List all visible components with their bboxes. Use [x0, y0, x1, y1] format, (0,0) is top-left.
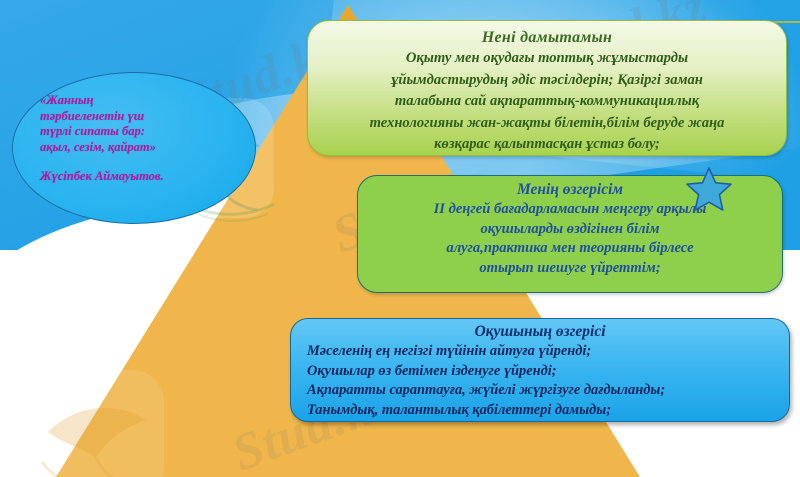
quote-block: «Жанның тәрбиеленетін үш түрлі сипаты ба… [40, 93, 230, 185]
card-top-line: технологияны жан-жақты білетін,білім бер… [322, 113, 772, 135]
card-bottom-heading: Оқушының өзгерісі [303, 321, 777, 342]
quote-line: «Жанның [40, 93, 230, 109]
card-bottom-line: Ақпаратты сараптауға, жүйелі жүргізуге д… [307, 381, 777, 401]
quote-author: Жүсіпбек Аймауытов. [40, 169, 230, 185]
card-top-line: талабына сай ақпараттық-коммуникациялық [322, 91, 772, 113]
star-icon [686, 167, 732, 211]
card-bottom-line: Мәселенің ең негізгі түйінін айтуға үйре… [307, 342, 777, 362]
card-bottom-line: Оқушылар өз бетімен ізденуге үйренді; [307, 362, 777, 382]
card-mid-line: алуга,практика мен теорияны бірлесе [370, 239, 770, 259]
card-top-line: Оқыту мен оқудағы топтық жұмыстарды [322, 48, 772, 70]
card-mid-line: оқушыларды өздігінен білім [370, 220, 770, 240]
quote-line: ақыл, сезім, қайрат» [40, 140, 230, 156]
card-what-i-develop: Нені дамытамын Оқыту мен оқудағы топтық … [307, 20, 787, 156]
card-bottom-line: Танымдық, талантылық қабілеттері дамыды; [307, 401, 777, 421]
card-student-change: Оқушының өзгерісі Мәселенің ең негізгі т… [290, 318, 790, 422]
quote-line: түрлі сипаты бар: [40, 124, 230, 140]
card-mid-line: отырып шешуге үйреттім; [370, 259, 770, 279]
card-top-line: ұйымдастырудың әдіс тәсілдерін; Қазіргі … [322, 70, 772, 92]
quote-line: тәрбиеленетін үш [40, 109, 230, 125]
card-top-heading: Нені дамытамын [322, 27, 772, 48]
card-top-line: көзқарас қалыптасқан ұстаз болу; [322, 134, 772, 156]
presentation-slide: Stud.kz Stud.kz Stud.kz Stud.kz Stud.kz … [0, 0, 800, 477]
